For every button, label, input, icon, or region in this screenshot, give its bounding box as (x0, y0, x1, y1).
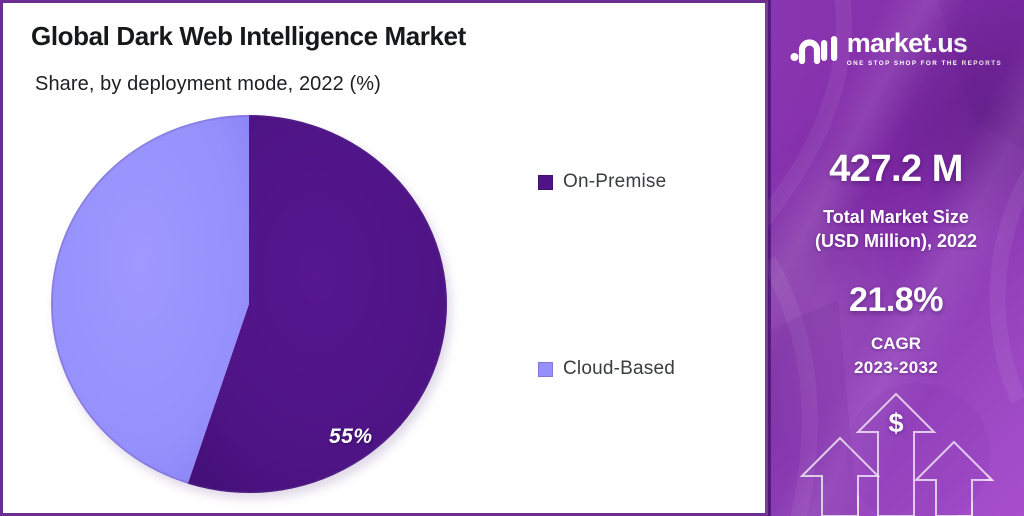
pie-slice-value-label: 55% (329, 425, 373, 449)
page-title: Global Dark Web Intelligence Market (31, 21, 466, 52)
chart-panel: Global Dark Web Intelligence Market Shar… (0, 0, 768, 516)
legend-label-cloud-based: Cloud-Based (563, 358, 675, 380)
legend-swatch-cloud-based (538, 362, 553, 377)
legend-swatch-on-premise (538, 175, 553, 190)
pie-chart: 55% (51, 115, 447, 493)
legend-label-on-premise: On-Premise (563, 171, 666, 193)
chart-subtitle: Share, by deployment mode, 2022 (%) (35, 73, 381, 96)
infographic-root: Global Dark Web Intelligence Market Shar… (0, 0, 1024, 516)
background-circle (846, 383, 990, 516)
legend-item-cloud-based[interactable]: Cloud-Based (538, 358, 675, 380)
dollar-sign-icon: $ (768, 408, 1024, 439)
stats-panel: market.us ONE STOP SHOP FOR THE REPORTS … (768, 0, 1024, 516)
legend-item-on-premise[interactable]: On-Premise (538, 171, 666, 193)
pie-chart-svg (51, 115, 447, 493)
stats-panel-content: market.us ONE STOP SHOP FOR THE REPORTS … (768, 0, 1024, 516)
